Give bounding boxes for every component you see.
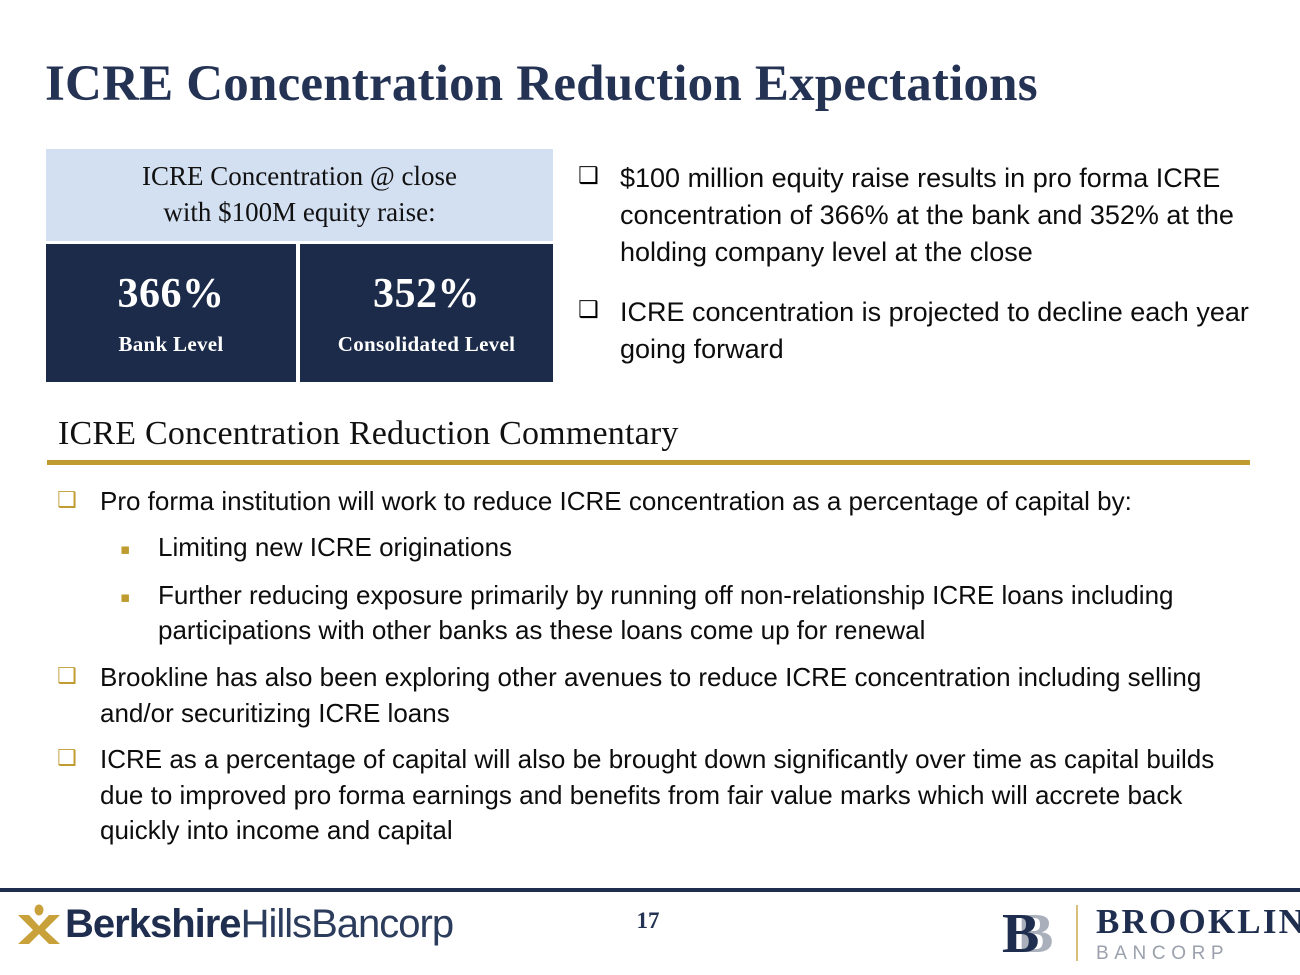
metric-label: Consolidated Level [338,332,516,357]
sub-list-item-text: Further reducing exposure primarily by r… [158,578,1252,649]
logo-divider [1076,905,1078,961]
list-item: ❑ Brookline has also been exploring othe… [57,660,1252,731]
list-item-text: ICRE concentration is projected to decli… [620,294,1258,368]
metric-box-bank-level: 366% Bank Level [46,244,296,382]
brookline-title: BROOKLINE [1096,904,1300,939]
brookline-bancorp-logo: B B BROOKLINE BANCORP [1000,900,1300,966]
sub-list-item: ▪ Limiting new ICRE originations [57,530,1252,565]
sub-list-item: ▪ Further reducing exposure primarily by… [57,578,1252,649]
list-item-text: Pro forma institution will work to reduc… [100,484,1252,519]
metric-header-line-2: with $100M equity raise: [163,195,435,231]
berkshire-x-mark-icon [16,904,62,944]
metric-label: Bank Level [118,332,223,357]
metric-value: 366% [118,270,225,318]
summary-bullet-list: ❑ $100 million equity raise results in p… [578,160,1258,391]
list-item-text: ICRE as a percentage of capital will als… [100,742,1252,848]
page-number: 17 [618,908,678,934]
square-bullet-icon: ❑ [578,160,620,271]
brookline-wordmark: BROOKLINE BANCORP [1096,904,1300,963]
metric-panel-header: ICRE Concentration @ close with $100M eq… [46,149,553,241]
commentary-heading: ICRE Concentration Reduction Commentary [58,415,679,453]
metric-header-line-1: ICRE Concentration @ close [142,159,457,195]
square-bullet-icon: ❑ [57,484,100,519]
list-item: ❑ $100 million equity raise results in p… [578,160,1258,271]
berkshire-name-light: HillsBancorp [241,902,454,946]
berkshire-hills-bancorp-logo: BerkshireHillsBancorp [16,904,453,944]
list-item-text: $100 million equity raise results in pro… [620,160,1258,271]
brookline-monogram-icon: B B [1000,904,1062,962]
berkshire-wordmark: BerkshireHillsBancorp [65,904,453,944]
monogram-front: B [1002,906,1039,962]
list-item: ❑ ICRE as a percentage of capital will a… [57,742,1252,848]
metric-value: 352% [373,270,480,318]
commentary-bullet-list: ❑ Pro forma institution will work to red… [57,484,1252,859]
sub-list-item-text: Limiting new ICRE originations [158,530,1252,565]
footer: BerkshireHillsBancorp 17 B B BROOKLINE B… [0,892,1300,975]
icre-concentration-panel: ICRE Concentration @ close with $100M eq… [46,149,553,382]
brookline-subtitle: BANCORP [1096,944,1300,963]
list-item: ❑ ICRE concentration is projected to dec… [578,294,1258,368]
small-square-bullet-icon: ▪ [120,578,158,649]
small-square-bullet-icon: ▪ [120,530,158,565]
square-bullet-icon: ❑ [57,660,100,731]
metric-boxes: 366% Bank Level 352% Consolidated Level [46,244,553,382]
slide: ICRE Concentration Reduction Expectation… [0,0,1300,975]
list-item-text: Brookline has also been exploring other … [100,660,1252,731]
square-bullet-icon: ❑ [57,742,100,848]
page-title: ICRE Concentration Reduction Expectation… [45,58,1038,112]
commentary-divider [47,460,1250,465]
list-item: ❑ Pro forma institution will work to red… [57,484,1252,519]
berkshire-name-bold: Berkshire [65,902,241,946]
square-bullet-icon: ❑ [578,294,620,368]
metric-box-consolidated-level: 352% Consolidated Level [300,244,553,382]
